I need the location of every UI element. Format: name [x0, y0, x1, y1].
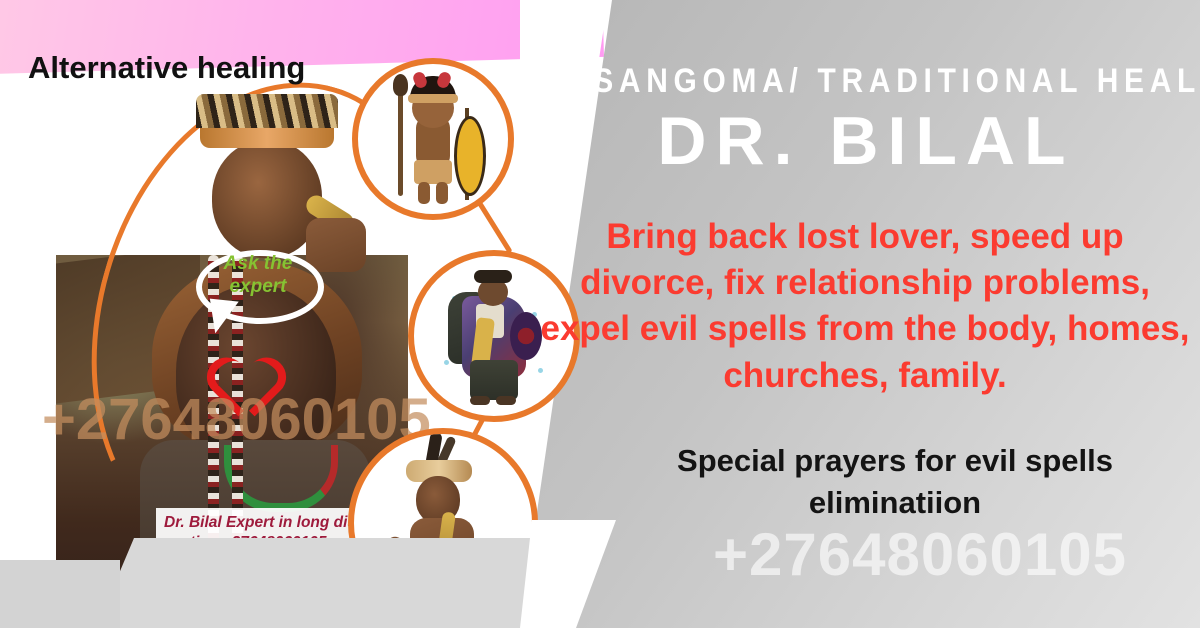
- sparkle-icon: [444, 360, 449, 365]
- warrior-skirt: [414, 160, 452, 184]
- services-text: Bring back lost lover, speed up divorce,…: [540, 214, 1190, 399]
- warrior-leg: [418, 182, 430, 204]
- warrior-headband: [408, 94, 458, 103]
- bottom-gray-shape: [96, 538, 556, 628]
- speech-bubble-text: Ask the expert: [206, 252, 310, 298]
- warrior-leg: [436, 182, 448, 204]
- phone-watermark: +27648060105: [640, 520, 1200, 589]
- warrior-shoulder: [306, 218, 366, 272]
- main-warrior-illustration: [170, 100, 370, 270]
- illustration-bubble-warrior: [352, 58, 514, 220]
- heart-icon: [196, 333, 258, 391]
- kicker-text: SANGOMA/ TRADITIONAL HEALER: [593, 62, 1139, 101]
- healer-shield-icon: [510, 312, 542, 360]
- shield-icon: [454, 116, 486, 196]
- healer-hat: [474, 270, 512, 283]
- photo-watermark: +27648060105: [42, 386, 431, 453]
- poster-canvas: Ask the expert +27648060105 Dr. Bilal Ex…: [0, 0, 1200, 628]
- healer-shoe: [496, 396, 516, 405]
- eyebrow-text: Alternative healing: [28, 50, 305, 86]
- healer-pants: [470, 360, 518, 400]
- spear-tip-icon: [393, 74, 408, 96]
- special-prayers-text: Special prayers for evil spells eliminat…: [600, 440, 1190, 524]
- bottom-left-gray-shape: [0, 560, 120, 628]
- warrior-feather-crown: [196, 94, 338, 128]
- spear-icon: [398, 80, 403, 196]
- healer-shoe: [470, 396, 490, 405]
- brand-title: DR. BILAL: [556, 106, 1176, 177]
